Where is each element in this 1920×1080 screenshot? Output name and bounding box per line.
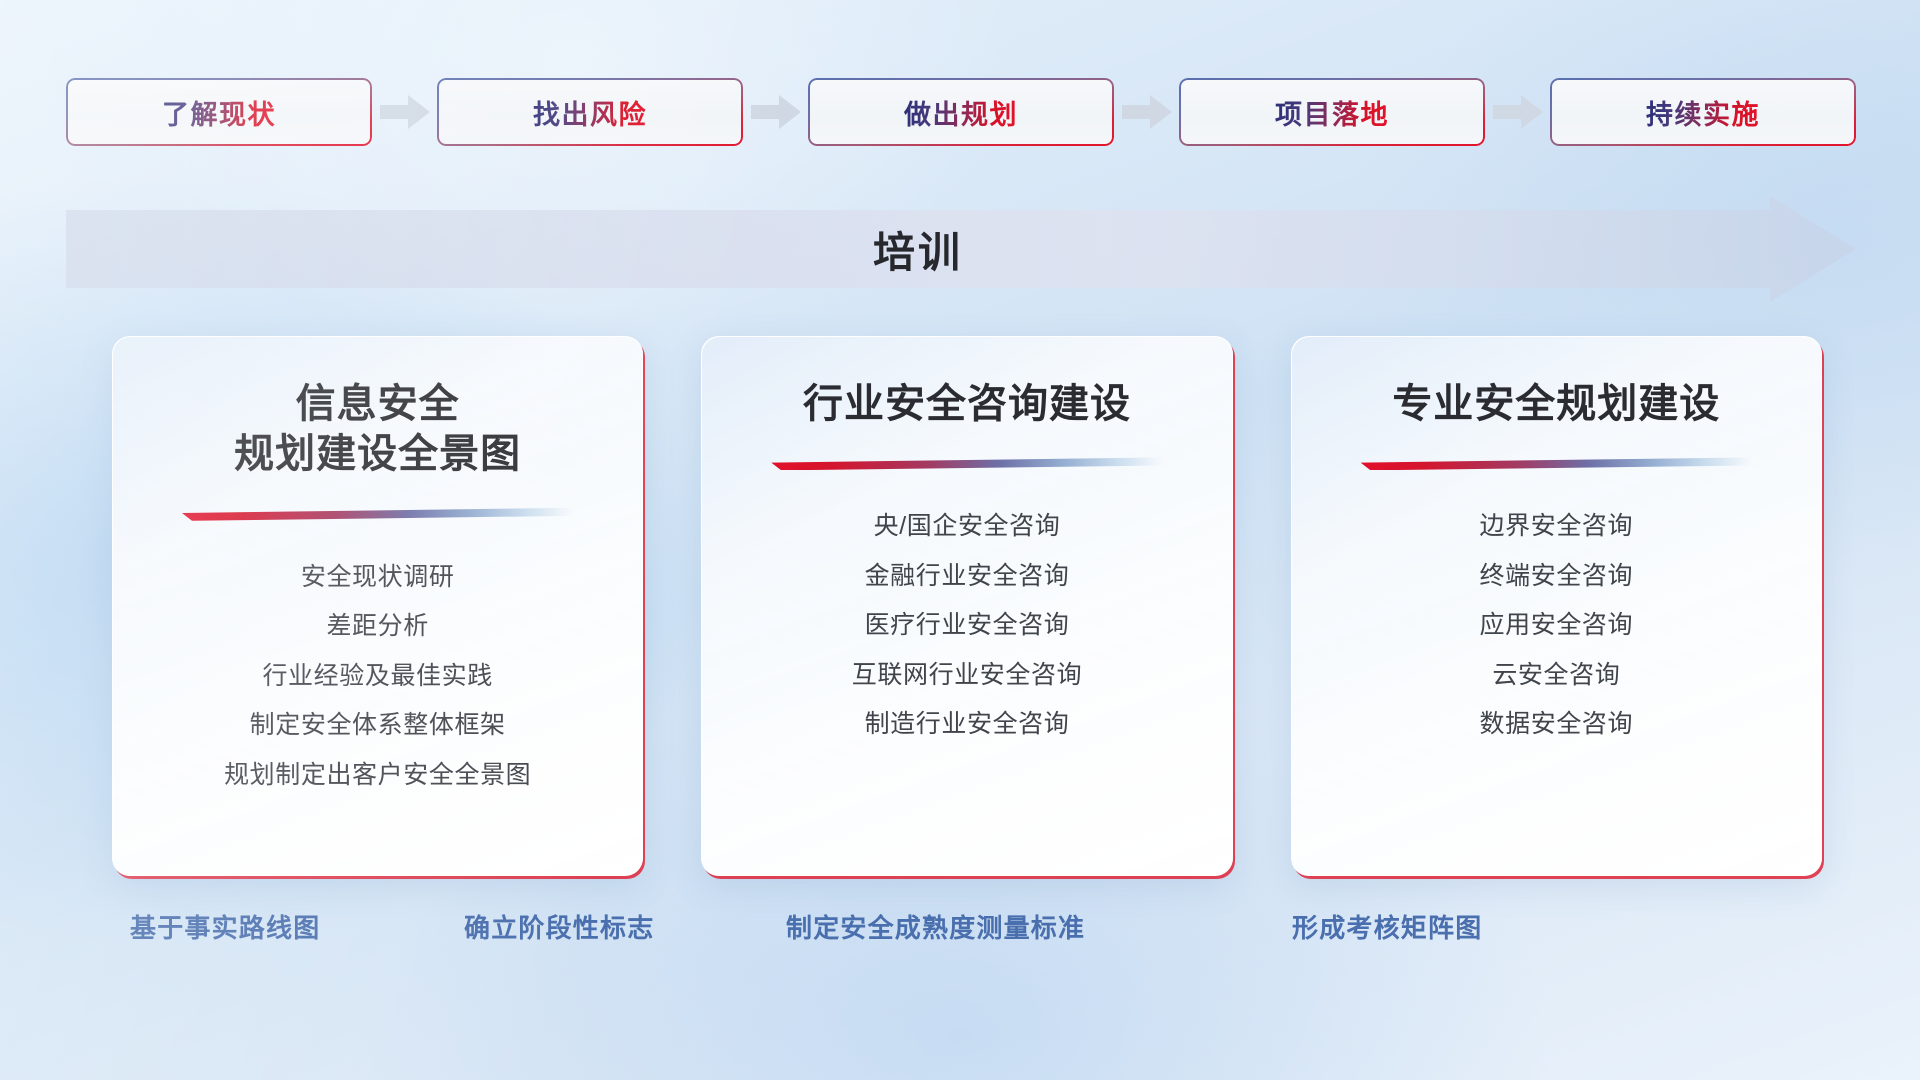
list-item: 数据安全咨询 xyxy=(1480,704,1634,745)
card-2-title: 行业安全咨询建设 xyxy=(803,379,1131,429)
process-step-4-label: 项目落地 xyxy=(1275,93,1389,132)
slide-canvas: 了解现状 找出风险 做出规划 项目落地 xyxy=(0,0,1920,1080)
footer-label-row: 基于事实路线图 确立阶段性标志 制定安全成熟度测量标准 形成考核矩阵图 xyxy=(0,908,1920,968)
training-banner: 培训 xyxy=(66,196,1856,302)
step-arrow-1-icon xyxy=(372,78,437,146)
process-step-5-label: 持续实施 xyxy=(1646,93,1760,132)
list-item: 行业经验及最佳实践 xyxy=(262,656,492,697)
process-step-1[interactable]: 了解现状 xyxy=(66,78,372,146)
list-item: 制定安全体系整体框架 xyxy=(250,705,506,746)
list-item: 云安全咨询 xyxy=(1492,655,1620,696)
card-professional-security-planning[interactable]: 专业安全规划建设 边界安全咨询 终端安全咨询 应用安全咨询 云安全咨询 数据安全… xyxy=(1291,336,1822,876)
list-item: 规划制定出客户安全全景图 xyxy=(224,755,531,796)
card-1-title: 信息安全 规划建设全景图 xyxy=(234,379,521,480)
card-1-divider xyxy=(182,508,573,521)
step-arrow-4-icon xyxy=(1485,78,1550,146)
card-row: 信息安全 规划建设全景图 安全现状调研 差距分析 行业经验及最佳实践 制定安全体… xyxy=(112,336,1822,876)
process-step-4[interactable]: 项目落地 xyxy=(1179,78,1485,146)
list-item: 金融行业安全咨询 xyxy=(865,556,1070,597)
list-item: 边界安全咨询 xyxy=(1480,506,1634,547)
list-item: 终端安全咨询 xyxy=(1480,556,1634,597)
card-3-divider xyxy=(1361,457,1752,470)
list-item: 差距分析 xyxy=(326,606,428,647)
process-step-2-label: 找出风险 xyxy=(533,93,647,132)
footer-label-matrix: 形成考核矩阵图 xyxy=(1292,908,1482,945)
list-item: 互联网行业安全咨询 xyxy=(852,655,1082,696)
footer-label-roadmap: 基于事实路线图 xyxy=(130,908,320,945)
process-step-2[interactable]: 找出风险 xyxy=(437,78,743,146)
banner-title: 培训 xyxy=(66,196,1770,302)
card-2-list: 央/国企安全咨询 金融行业安全咨询 医疗行业安全咨询 互联网行业安全咨询 制造行… xyxy=(728,506,1205,745)
process-step-1-label: 了解现状 xyxy=(162,93,276,132)
card-2-divider xyxy=(771,457,1162,470)
card-1-list: 安全现状调研 差距分析 行业经验及最佳实践 制定安全体系整体框架 规划制定出客户… xyxy=(139,557,616,796)
process-step-3-label: 做出规划 xyxy=(904,93,1018,132)
footer-label-milestone: 确立阶段性标志 xyxy=(464,908,654,945)
card-3-list: 边界安全咨询 终端安全咨询 应用安全咨询 云安全咨询 数据安全咨询 xyxy=(1318,506,1795,745)
card-information-security-blueprint[interactable]: 信息安全 规划建设全景图 安全现状调研 差距分析 行业经验及最佳实践 制定安全体… xyxy=(112,336,643,876)
step-arrow-2-icon xyxy=(743,78,808,146)
process-step-5[interactable]: 持续实施 xyxy=(1550,78,1856,146)
process-step-row: 了解现状 找出风险 做出规划 项目落地 xyxy=(66,76,1856,148)
step-arrow-3-icon xyxy=(1114,78,1179,146)
process-step-3[interactable]: 做出规划 xyxy=(808,78,1114,146)
card-industry-security-consulting[interactable]: 行业安全咨询建设 央/国企安全咨询 金融行业安全咨询 医疗行业安全咨询 互联网行… xyxy=(701,336,1232,876)
list-item: 医疗行业安全咨询 xyxy=(865,605,1070,646)
list-item: 制造行业安全咨询 xyxy=(865,704,1070,745)
list-item: 央/国企安全咨询 xyxy=(874,506,1061,547)
list-item: 安全现状调研 xyxy=(301,557,455,598)
list-item: 应用安全咨询 xyxy=(1480,605,1634,646)
card-3-title: 专业安全规划建设 xyxy=(1392,379,1720,429)
footer-label-maturity: 制定安全成熟度测量标准 xyxy=(786,908,1085,945)
